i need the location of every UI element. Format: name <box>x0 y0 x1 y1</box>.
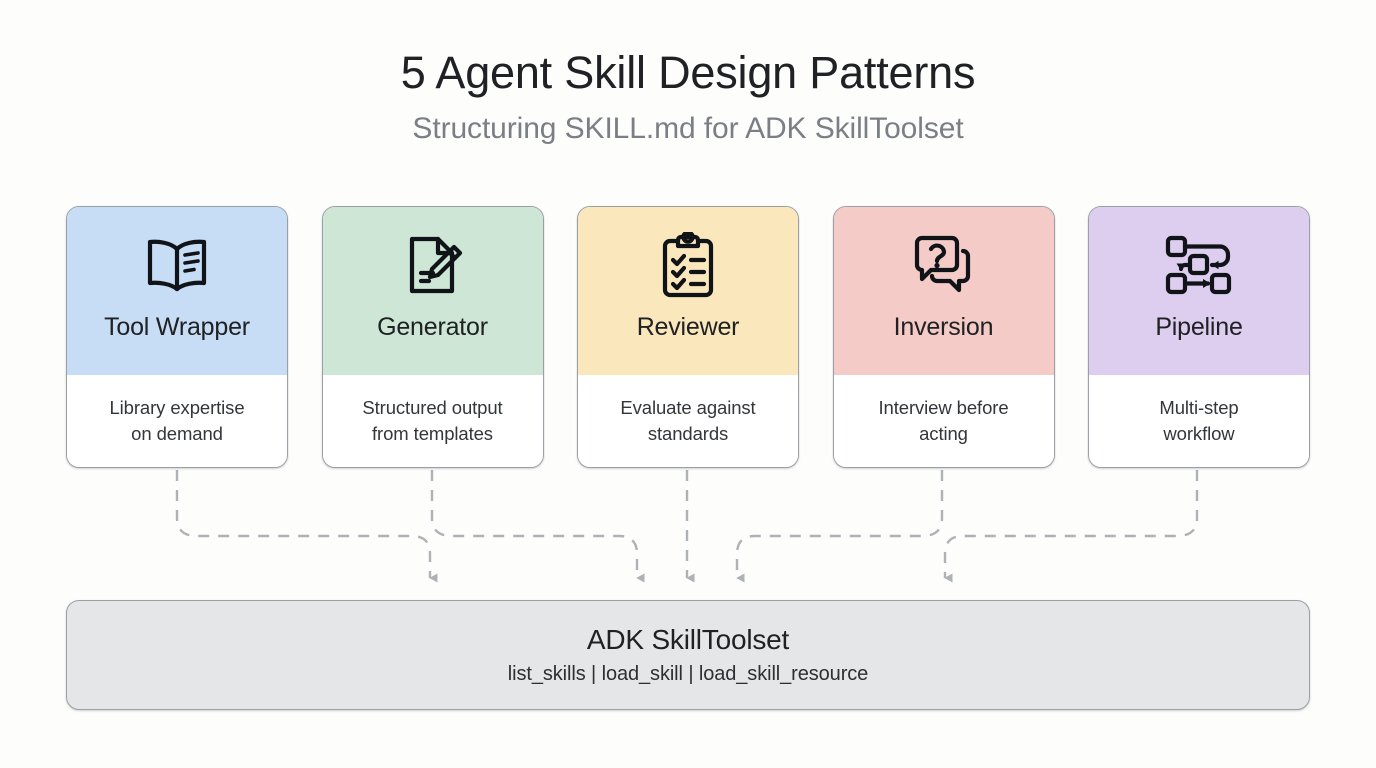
card-body: Structured output from templates <box>323 375 543 467</box>
adk-skilltoolset-bar[interactable]: ADK SkillToolset list_skills | load_skil… <box>66 600 1310 710</box>
card-description: Interview before acting <box>868 395 1018 448</box>
card-description-line1: Evaluate against <box>620 397 755 418</box>
card-description-line2: standards <box>648 423 728 444</box>
card-header: Generator <box>323 207 543 375</box>
card-description-line1: Library expertise <box>109 397 244 418</box>
pattern-card-generator[interactable]: Generator Structured output from templat… <box>322 206 544 468</box>
pattern-card-tool-wrapper[interactable]: Tool Wrapper Library expertise on demand <box>66 206 288 468</box>
card-description-line2: workflow <box>1163 423 1234 444</box>
card-title: Tool Wrapper <box>104 315 250 340</box>
card-body: Library expertise on demand <box>67 375 287 467</box>
document-pencil-icon <box>402 229 464 301</box>
card-description-line2: acting <box>919 423 968 444</box>
card-description-line2: on demand <box>131 423 223 444</box>
card-header: Inversion <box>834 207 1054 375</box>
card-description-line1: Multi-step <box>1159 397 1238 418</box>
card-header: Tool Wrapper <box>67 207 287 375</box>
question-speech-bubbles-icon <box>909 229 979 301</box>
card-body: Multi-step workflow <box>1089 375 1309 467</box>
card-description-line1: Structured output <box>362 397 502 418</box>
card-title: Generator <box>377 315 488 340</box>
diagram-canvas: 5 Agent Skill Design Patterns Structurin… <box>0 0 1376 768</box>
card-title: Inversion <box>894 315 994 340</box>
card-description: Library expertise on demand <box>99 395 254 448</box>
card-description: Multi-step workflow <box>1149 395 1248 448</box>
pipeline-flow-icon <box>1163 229 1235 301</box>
connector-tool-wrapper <box>177 470 430 578</box>
connector-pipeline <box>945 470 1197 578</box>
page-subtitle: Structuring SKILL.md for ADK SkillToolse… <box>0 111 1376 147</box>
card-description: Evaluate against standards <box>610 395 765 448</box>
card-title: Reviewer <box>637 315 740 340</box>
connector-generator <box>432 470 637 578</box>
card-body: Interview before acting <box>834 375 1054 467</box>
card-title: Pipeline <box>1155 315 1242 340</box>
card-body: Evaluate against standards <box>578 375 798 467</box>
open-book-icon <box>143 229 211 301</box>
connector-inversion <box>737 470 942 578</box>
card-header: Pipeline <box>1089 207 1309 375</box>
toolset-tools: list_skills | load_skill | load_skill_re… <box>508 663 868 685</box>
header: 5 Agent Skill Design Patterns Structurin… <box>0 46 1376 147</box>
card-header: Reviewer <box>578 207 798 375</box>
page-title: 5 Agent Skill Design Patterns <box>0 46 1376 99</box>
toolset-title: ADK SkillToolset <box>587 625 789 656</box>
card-description-line2: from templates <box>372 423 493 444</box>
pattern-card-pipeline[interactable]: Pipeline Multi-step workflow <box>1088 206 1310 468</box>
pattern-card-reviewer[interactable]: Reviewer Evaluate against standards <box>577 206 799 468</box>
pattern-card-inversion[interactable]: Inversion Interview before acting <box>833 206 1055 468</box>
pattern-card-list: Tool Wrapper Library expertise on demand <box>66 206 1310 468</box>
card-description: Structured output from templates <box>352 395 512 448</box>
clipboard-checklist-icon <box>659 229 717 301</box>
card-description-line1: Interview before <box>878 397 1008 418</box>
